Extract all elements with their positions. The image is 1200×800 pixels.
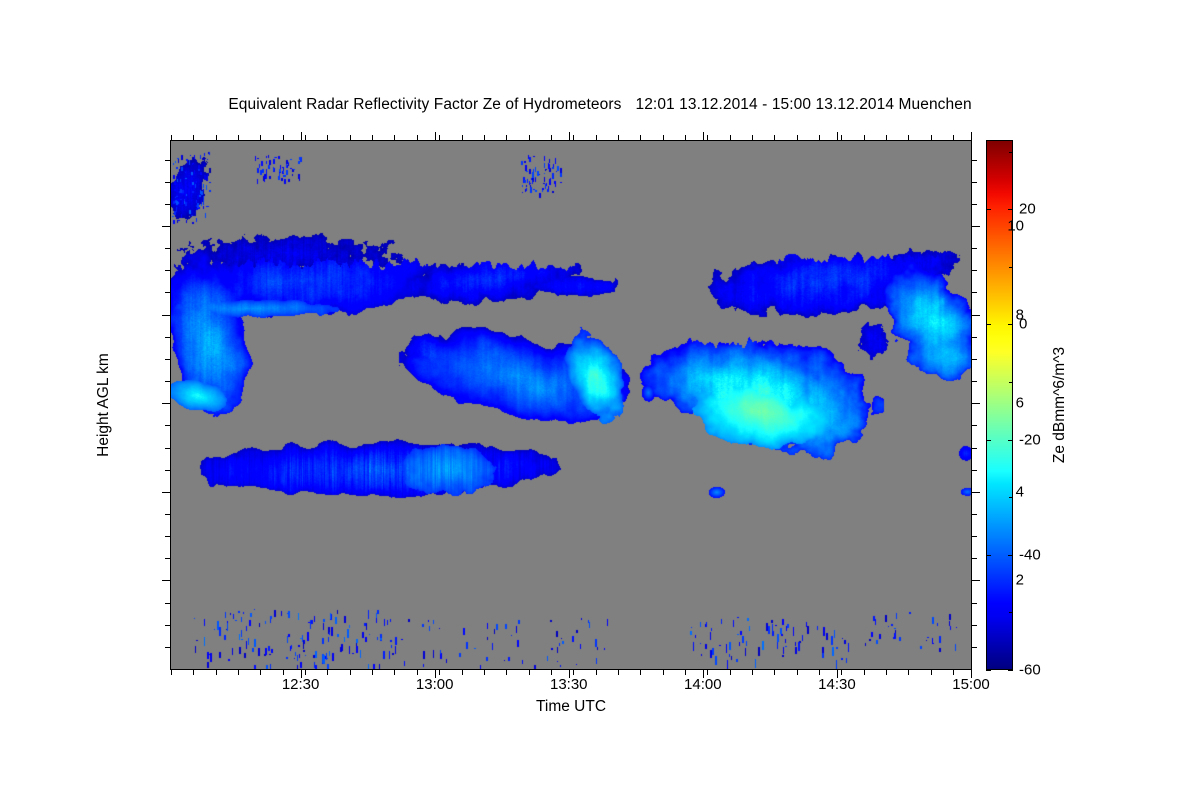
y-tick-major [162, 226, 170, 227]
y-tick-major [162, 403, 170, 404]
y-tick-minor [165, 248, 170, 249]
y-tick-minor [165, 647, 170, 648]
x-tick-minor-top [529, 135, 530, 140]
y-tick-minor-right [972, 425, 977, 426]
x-tick-minor [797, 670, 798, 675]
x-tick-minor-top [238, 135, 239, 140]
y-tick-minor-right [972, 470, 977, 471]
colorbar-tick-minor [1009, 267, 1013, 268]
y-tick-major-right [972, 492, 980, 493]
y-tick-minor-right [972, 160, 977, 161]
y-tick-minor-right [972, 381, 977, 382]
colorbar-tick-left [986, 555, 991, 556]
y-tick-minor [165, 359, 170, 360]
x-tick-minor [439, 670, 440, 675]
y-tick-minor-right [972, 558, 977, 559]
x-tick-minor-top [953, 135, 954, 140]
x-tick-minor [640, 670, 641, 675]
colorbar-tick-left [986, 324, 991, 325]
x-tick-minor-top [551, 135, 552, 140]
x-tick-minor [685, 670, 686, 675]
y-tick-minor [165, 182, 170, 183]
colorbar-tick-label: 20 [1019, 201, 1036, 218]
x-tick-minor [864, 670, 865, 675]
y-tick-major [162, 492, 170, 493]
y-tick-label: 2 [984, 572, 1024, 589]
x-tick-minor [618, 670, 619, 675]
x-tick-minor-top [193, 135, 194, 140]
x-tick-minor-top [640, 135, 641, 140]
y-tick-minor-right [972, 182, 977, 183]
x-tick-minor [171, 670, 172, 675]
x-tick-minor-top [685, 135, 686, 140]
x-tick-minor [193, 670, 194, 675]
y-tick-minor [165, 204, 170, 205]
y-tick-minor [165, 470, 170, 471]
y-tick-minor [165, 536, 170, 537]
y-tick-major [162, 315, 170, 316]
x-tick-minor-top [327, 135, 328, 140]
colorbar-tick [1008, 440, 1013, 441]
x-tick-label: 12:30 [282, 676, 320, 693]
colorbar-title: Ze dBmm^6/m^3 [1051, 347, 1069, 463]
chart-title: Equivalent Radar Reflectivity Factor Ze … [0, 96, 1200, 114]
x-axis-title: Time UTC [536, 698, 606, 716]
x-tick-minor-top [819, 135, 820, 140]
x-tick-minor-top [573, 135, 574, 140]
colorbar-tick-minor [1009, 152, 1013, 153]
x-tick-minor-top [908, 135, 909, 140]
x-tick-major-top [703, 132, 704, 140]
y-tick-label: 6 [984, 395, 1024, 412]
x-tick-minor-top [417, 135, 418, 140]
x-tick-minor-top [774, 135, 775, 140]
x-tick-major-top [435, 132, 436, 140]
x-tick-minor-top [864, 135, 865, 140]
x-tick-minor-top [484, 135, 485, 140]
colorbar-tick-minor [1009, 382, 1013, 383]
y-tick-minor-right [972, 248, 977, 249]
x-tick-minor-top [439, 135, 440, 140]
x-tick-minor-top [171, 135, 172, 140]
y-tick-minor [165, 337, 170, 338]
y-tick-minor [165, 292, 170, 293]
colorbar-tick-label: 0 [1019, 316, 1027, 333]
x-tick-minor-top [372, 135, 373, 140]
colorbar-tick-left [986, 440, 991, 441]
x-tick-label: 14:00 [684, 676, 722, 693]
x-tick-major-top [569, 132, 570, 140]
y-tick-minor-right [972, 448, 977, 449]
y-tick-minor-right [972, 514, 977, 515]
x-tick-minor-top [216, 135, 217, 140]
y-tick-minor [165, 425, 170, 426]
x-tick-minor-top [618, 135, 619, 140]
colorbar-tick-label: -20 [1019, 431, 1041, 448]
x-tick-major-top [301, 132, 302, 140]
x-tick-minor [953, 670, 954, 675]
x-tick-minor [327, 670, 328, 675]
colorbar-tick-left [986, 670, 991, 671]
y-tick-major-right [972, 226, 980, 227]
x-tick-minor [462, 670, 463, 675]
x-tick-minor-top [931, 135, 932, 140]
x-tick-minor [529, 670, 530, 675]
figure-root: Equivalent Radar Reflectivity Factor Ze … [0, 0, 1200, 800]
y-tick-minor [165, 448, 170, 449]
x-tick-minor [663, 670, 664, 675]
y-tick-minor-right [972, 536, 977, 537]
x-tick-minor-top [886, 135, 887, 140]
x-tick-label: 14:30 [818, 676, 856, 693]
x-tick-label: 15:00 [952, 676, 990, 693]
colorbar-tick [1008, 670, 1013, 671]
colorbar-tick-minor [1009, 612, 1013, 613]
y-tick-minor [165, 603, 170, 604]
y-tick-minor-right [972, 292, 977, 293]
y-tick-minor-right [972, 337, 977, 338]
x-tick-minor [283, 670, 284, 675]
x-tick-minor-top [462, 135, 463, 140]
y-tick-minor [165, 381, 170, 382]
colorbar-tick-label: -40 [1019, 546, 1041, 563]
x-tick-minor [886, 670, 887, 675]
y-tick-label: 8 [984, 306, 1024, 323]
x-tick-major-top [971, 132, 972, 140]
x-tick-minor-top [394, 135, 395, 140]
colorbar-tick [1008, 555, 1013, 556]
y-tick-major-right [972, 315, 980, 316]
y-tick-minor [165, 160, 170, 161]
x-tick-label: 13:30 [550, 676, 588, 693]
x-tick-minor [707, 670, 708, 675]
y-tick-minor-right [972, 603, 977, 604]
x-tick-minor [819, 670, 820, 675]
x-tick-minor-top [260, 135, 261, 140]
x-tick-minor [573, 670, 574, 675]
y-axis-title: Height AGL km [95, 353, 113, 457]
y-tick-minor-right [972, 270, 977, 271]
y-tick-major [162, 580, 170, 581]
x-tick-minor [596, 670, 597, 675]
y-tick-minor [165, 558, 170, 559]
x-tick-minor-top [707, 135, 708, 140]
x-tick-major-top [837, 132, 838, 140]
y-tick-minor-right [972, 204, 977, 205]
x-tick-minor-top [730, 135, 731, 140]
x-tick-minor-top [797, 135, 798, 140]
x-tick-minor-top [663, 135, 664, 140]
chart-title-timerange: 12:01 13.12.2014 - 15:00 13.12.2014 Muen… [635, 96, 971, 113]
y-tick-minor [165, 514, 170, 515]
x-tick-minor [305, 670, 306, 675]
x-tick-minor [372, 670, 373, 675]
chart-title-main: Equivalent Radar Reflectivity Factor Ze … [228, 96, 621, 113]
x-tick-minor [774, 670, 775, 675]
colorbar-tick-label: -60 [1019, 662, 1041, 679]
x-tick-minor-top [283, 135, 284, 140]
x-tick-label: 13:00 [416, 676, 454, 693]
x-tick-minor [238, 670, 239, 675]
x-tick-minor [484, 670, 485, 675]
y-tick-minor [165, 625, 170, 626]
x-tick-minor-top [350, 135, 351, 140]
y-tick-minor-right [972, 647, 977, 648]
axis-ticks-layer [170, 140, 972, 670]
x-tick-minor [551, 670, 552, 675]
x-tick-minor [931, 670, 932, 675]
x-tick-minor [908, 670, 909, 675]
y-tick-minor-right [972, 359, 977, 360]
x-tick-minor-top [752, 135, 753, 140]
x-tick-minor [841, 670, 842, 675]
x-tick-minor [260, 670, 261, 675]
x-tick-minor-top [596, 135, 597, 140]
y-tick-major-right [972, 403, 980, 404]
x-tick-minor-top [506, 135, 507, 140]
y-tick-minor-right [972, 625, 977, 626]
colorbar-tick [1008, 209, 1013, 210]
x-tick-minor [752, 670, 753, 675]
x-tick-minor-top [305, 135, 306, 140]
x-tick-minor-top [841, 135, 842, 140]
x-tick-minor [216, 670, 217, 675]
x-tick-minor [350, 670, 351, 675]
x-tick-minor [730, 670, 731, 675]
x-tick-minor [417, 670, 418, 675]
y-tick-major-right [972, 580, 980, 581]
x-tick-minor [506, 670, 507, 675]
colorbar-tick-left [986, 209, 991, 210]
colorbar-tick [1008, 324, 1013, 325]
y-tick-minor [165, 270, 170, 271]
x-tick-minor [394, 670, 395, 675]
y-tick-label: 10 [984, 218, 1024, 235]
y-tick-label: 4 [984, 483, 1024, 500]
